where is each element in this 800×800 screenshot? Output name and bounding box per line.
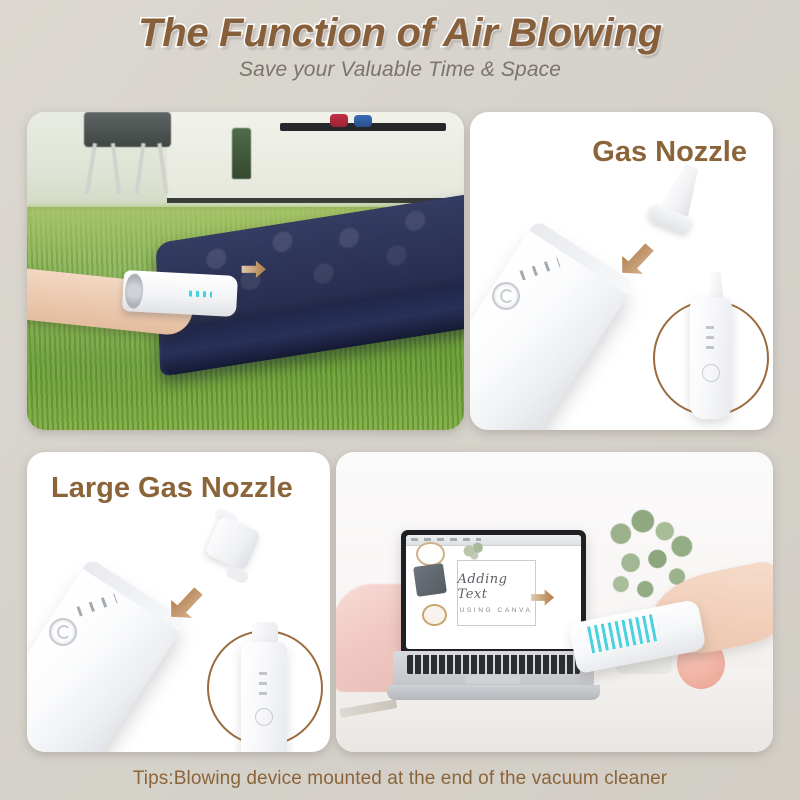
flatlay-notebook [413,563,447,597]
laptop-trackpad [465,675,521,684]
chair-leg [157,143,168,194]
camper-van [167,112,464,203]
camping-chair [84,112,171,195]
assembly-arrow-icon [167,579,209,621]
wide-nozzle-attachment [192,504,272,585]
page-title: The Function of Air Blowing [0,12,800,54]
red-bag [330,114,348,127]
blower-body [27,558,187,752]
airflow-arrow-icon [528,584,559,611]
assembled-nozzle-tip [252,622,278,644]
assembled-device [690,297,732,419]
canva-text-frame: Adding Text USING CANVA [457,560,536,626]
flatlay-watch [422,604,447,626]
canva-script-text: Adding Text [458,572,535,602]
nozzle-flange-bottom [225,565,250,585]
gas-nozzle-panel: Gas Nozzle [470,112,773,430]
chair-leg [110,143,120,194]
header: The Function of Air Blowing Save your Va… [0,12,800,82]
power-button-icon [49,618,77,646]
inset-power-button-icon [702,364,720,382]
chair-leg [134,143,145,194]
inset-power-button-icon [255,708,273,726]
nozzle-body [204,515,261,571]
inset-led-indicator [706,326,714,356]
power-button-icon [492,282,520,310]
flatlay-leaf [455,540,490,563]
cone-nozzle-attachment [646,158,712,238]
laptop: Adding Text USING CANVA [393,530,594,698]
blue-bag [354,115,372,127]
assembly-arrow-icon [618,235,660,277]
infographic-page: The Function of Air Blowing Save your Va… [0,0,800,800]
large-gas-nozzle-title: Large Gas Nozzle [51,472,293,505]
led-indicator [189,290,212,297]
laptop-keyboard [407,655,580,674]
laptop-keyboard-blowing-photo: Adding Text USING CANVA [336,452,773,752]
laptop-base [393,651,594,688]
chair-leg [85,143,97,194]
page-subtitle: Save your Valuable Time & Space [0,58,800,82]
chair-seat [84,112,171,147]
air-mattress-inflation-photo [27,112,464,430]
inset-led-indicator [259,672,267,702]
blower-device [122,270,238,317]
laptop-front-edge [387,685,600,700]
airflow-arrow-icon [237,255,272,284]
canva-sub-text: USING CANVA [460,607,533,614]
blower-body [470,220,635,430]
large-gas-nozzle-panel: Large Gas Nozzle [27,452,330,752]
tip-caption: Tips:Blowing device mounted at the end o… [0,768,800,790]
green-bottle [232,128,250,179]
